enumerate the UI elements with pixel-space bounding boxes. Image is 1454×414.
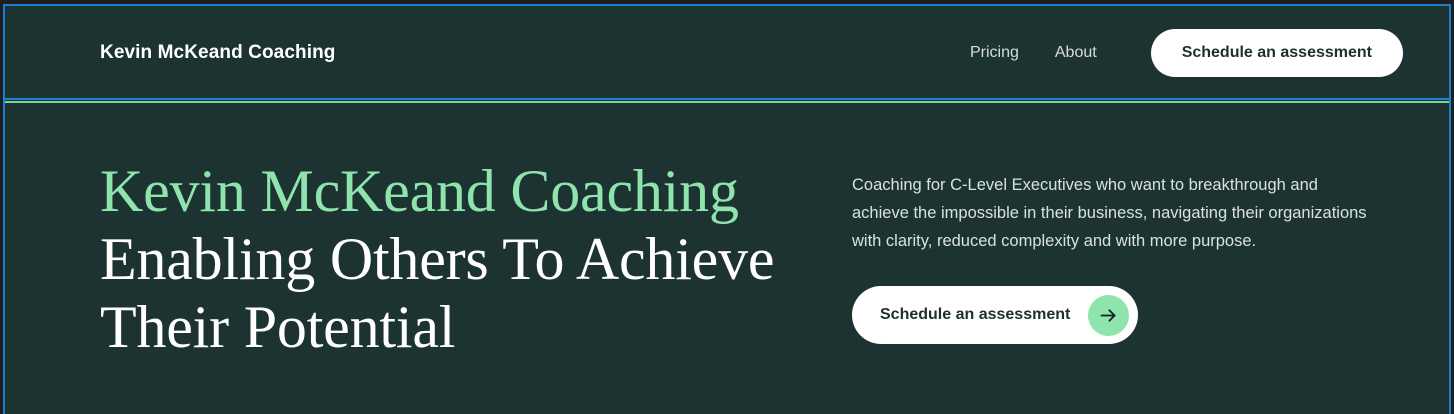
browser-screen: Kevin McKeand Coaching Pricing About Sch…: [0, 0, 1454, 414]
hero-left-column: Kevin McKeand Coaching Enabling Others T…: [100, 157, 852, 361]
hero-right-column: Coaching for C-Level Executives who want…: [852, 157, 1372, 361]
site-header: Kevin McKeand Coaching Pricing About Sch…: [5, 6, 1449, 100]
header-selection-outline-bottom: [3, 98, 1451, 100]
header-schedule-assessment-button[interactable]: Schedule an assessment: [1151, 29, 1403, 77]
site-logo[interactable]: Kevin McKeand Coaching: [100, 42, 336, 64]
primary-nav: Pricing About: [970, 44, 1097, 62]
selection-outline-top: [3, 4, 1451, 6]
hero-section: Kevin McKeand Coaching Enabling Others T…: [5, 100, 1449, 361]
page-content: Kevin McKeand Coaching Pricing About Sch…: [5, 6, 1449, 414]
hero-title-accent-line: Kevin McKeand Coaching: [100, 158, 739, 224]
hero-cta-label: Schedule an assessment: [880, 306, 1070, 324]
page-title: Kevin McKeand Coaching Enabling Others T…: [100, 157, 852, 361]
header-divider: [5, 101, 1449, 103]
nav-link-about[interactable]: About: [1055, 44, 1097, 62]
hero-description: Coaching for C-Level Executives who want…: [852, 171, 1372, 255]
hero-schedule-assessment-button[interactable]: Schedule an assessment: [852, 286, 1138, 344]
nav-link-pricing[interactable]: Pricing: [970, 44, 1019, 62]
arrow-right-icon: [1088, 295, 1129, 336]
hero-title-line-3: Their Potential: [100, 294, 455, 360]
hero-title-line-2: Enabling Others To Achieve: [100, 226, 774, 292]
header-right-group: Pricing About Schedule an assessment: [970, 29, 1403, 77]
